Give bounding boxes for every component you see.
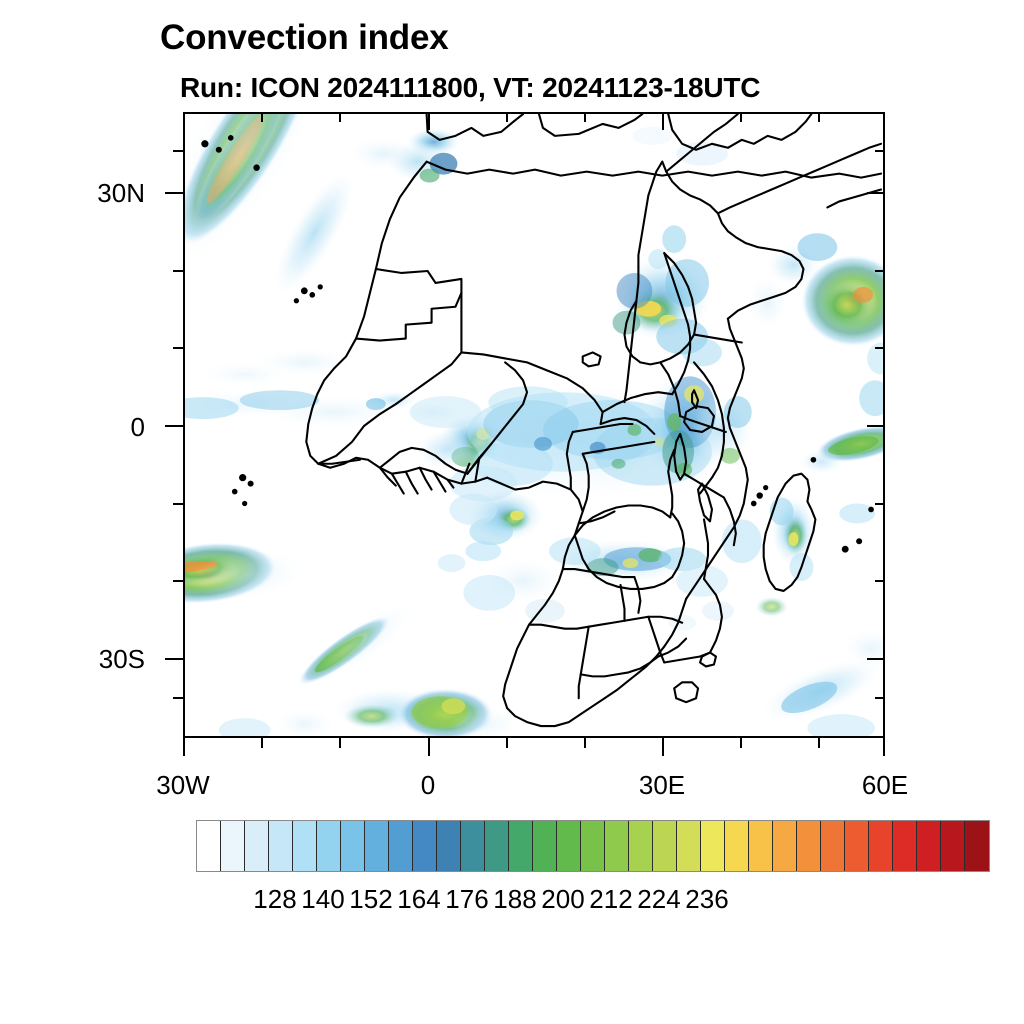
y-tick-minor-right: [875, 580, 885, 582]
colorbar-cell: [317, 821, 341, 871]
x-tick-minor-top: [818, 112, 820, 122]
y-tick-minor: [173, 580, 183, 582]
colorbar-cell: [917, 821, 941, 871]
x-tick-minor: [818, 738, 820, 748]
colorbar-cell: [893, 821, 917, 871]
y-tick-major-right: [867, 425, 885, 427]
colorbar-cell: [413, 821, 437, 871]
y-tick-major-right: [867, 192, 885, 194]
colorbar-cell: [293, 821, 317, 871]
x-tick-minor-top: [740, 112, 742, 122]
x-tick-major-top: [428, 112, 430, 130]
colorbar-cell: [197, 821, 221, 871]
x-tick-major: [662, 738, 664, 756]
x-tick-major: [883, 738, 885, 756]
y-tick-minor-right: [875, 347, 885, 349]
colorbar-cell: [773, 821, 797, 871]
y-tick-minor: [173, 270, 183, 272]
x-tick-major: [183, 738, 185, 756]
colorbar-cell: [221, 821, 245, 871]
map-plot-area: [183, 112, 885, 738]
colorbar-cell: [365, 821, 389, 871]
x-tick-minor: [740, 738, 742, 748]
convection-field: [185, 114, 883, 736]
y-tick-major-right: [867, 658, 885, 660]
x-tick-minor-top: [584, 112, 586, 122]
y-tick-major: [165, 658, 183, 660]
colorbar-cell: [245, 821, 269, 871]
colorbar-cell: [341, 821, 365, 871]
x-axis-label: 30E: [592, 770, 732, 801]
colorbar-cell: [725, 821, 749, 871]
colorbar-cell: [269, 821, 293, 871]
colorbar-tick-label: 236: [667, 884, 747, 915]
colorbar-cell: [749, 821, 773, 871]
x-axis-label: 30W: [113, 770, 253, 801]
x-tick-minor: [261, 738, 263, 748]
y-tick-minor-right: [875, 270, 885, 272]
y-tick-major: [165, 192, 183, 194]
colorbar-cell: [485, 821, 509, 871]
colorbar-cell: [557, 821, 581, 871]
x-tick-minor-top: [339, 112, 341, 122]
colorbar-cell: [533, 821, 557, 871]
y-tick-minor-right: [875, 697, 885, 699]
colorbar-cell: [653, 821, 677, 871]
colorbar-cell: [701, 821, 725, 871]
y-tick-minor-right: [875, 150, 885, 152]
x-axis-label: 0: [358, 770, 498, 801]
x-tick-minor: [584, 738, 586, 748]
colorbar-cell: [509, 821, 533, 871]
x-tick-major-top: [883, 112, 885, 130]
x-tick-major-top: [662, 112, 664, 130]
colorbar-cell: [965, 821, 989, 871]
y-axis-label: 30N: [25, 178, 145, 209]
colorbar-cell: [461, 821, 485, 871]
colorbar-cell: [869, 821, 893, 871]
x-tick-major: [428, 738, 430, 756]
x-tick-minor: [339, 738, 341, 748]
colorbar-cell: [821, 821, 845, 871]
colorbar: [196, 820, 990, 870]
x-tick-minor-top: [261, 112, 263, 122]
colorbar-cell: [389, 821, 413, 871]
y-tick-minor: [173, 347, 183, 349]
convection-map: [185, 114, 883, 736]
x-tick-major-top: [183, 112, 185, 130]
y-tick-minor: [173, 150, 183, 152]
page-subtitle: Run: ICON 2024111800, VT: 20241123-18UTC: [180, 72, 760, 104]
colorbar-scale[interactable]: [196, 820, 990, 872]
page-title: Convection index: [160, 18, 449, 58]
x-tick-minor: [506, 738, 508, 748]
y-tick-minor-right: [875, 503, 885, 505]
y-tick-major: [165, 425, 183, 427]
colorbar-cell: [437, 821, 461, 871]
colorbar-cell: [581, 821, 605, 871]
colorbar-cell: [629, 821, 653, 871]
x-axis-label: 60E: [815, 770, 955, 801]
y-axis-label: 0: [25, 412, 145, 443]
colorbar-cell: [605, 821, 629, 871]
y-tick-minor: [173, 503, 183, 505]
colorbar-cell: [797, 821, 821, 871]
colorbar-cell: [677, 821, 701, 871]
x-tick-minor-top: [506, 112, 508, 122]
y-tick-minor: [173, 697, 183, 699]
y-axis-label: 30S: [25, 644, 145, 675]
colorbar-cell: [941, 821, 965, 871]
colorbar-cell: [845, 821, 869, 871]
